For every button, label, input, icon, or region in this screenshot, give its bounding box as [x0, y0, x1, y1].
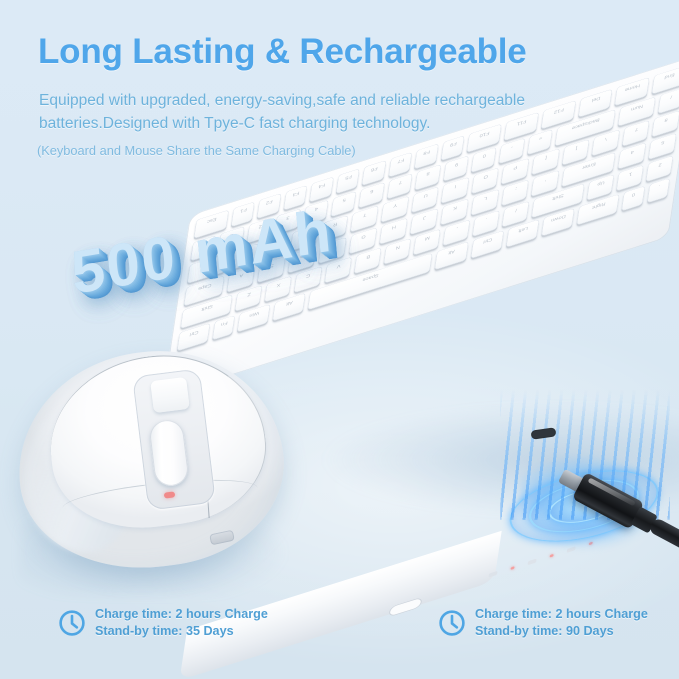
key-label: F7: [393, 155, 410, 166]
spec-item-mouse: Charge time: 2 hours Charge Stand-by tim…: [58, 606, 268, 639]
key-label: ': [536, 173, 557, 185]
spec-item-keyboard: Charge time: 2 hours Charge Stand-by tim…: [438, 606, 648, 639]
key-label: 5: [653, 136, 674, 148]
key-label: Up: [591, 177, 611, 189]
key-label: 1: [620, 168, 640, 180]
key-label: U: [415, 189, 436, 201]
key-label: Win: [242, 307, 268, 321]
clock-icon: [58, 609, 86, 637]
key-label: F6: [366, 163, 383, 174]
key-label: 0: [626, 189, 642, 199]
key-label: M: [417, 232, 437, 244]
key-label: [: [536, 151, 557, 163]
key-label: K: [444, 202, 465, 214]
indicator-icon: [567, 546, 576, 553]
keyboard-key[interactable]: Fn: [212, 315, 235, 340]
key-label: O: [475, 170, 496, 182]
key-label: F8: [419, 147, 436, 158]
key-label: 0: [475, 150, 493, 161]
key-label: Alt: [277, 296, 303, 310]
key-label: Y: [385, 199, 406, 211]
key-label: 9: [447, 159, 465, 170]
key-label: J: [414, 211, 435, 223]
keyboard-key[interactable]: .: [647, 178, 670, 203]
key-label: Alt: [439, 245, 465, 259]
key-label: Down: [545, 211, 571, 225]
key-label: Ctrl: [181, 326, 207, 340]
key-label: H: [384, 221, 405, 233]
indicator-icon: [488, 571, 497, 578]
key-label: 2: [650, 158, 670, 170]
standby-time-label: Stand-by time: 90 Days: [475, 623, 648, 639]
key-label: G: [353, 230, 374, 242]
key-label: 8: [419, 167, 437, 178]
shared-cable-note: (Keyboard and Mouse Share the Same Charg…: [37, 142, 356, 160]
spec-text-block: Charge time: 2 hours Charge Stand-by tim…: [475, 606, 648, 639]
key-label: X: [269, 279, 289, 291]
key-label: 4: [622, 146, 643, 158]
key-label: F4: [314, 180, 331, 191]
page-title: Long Lasting & Rechargeable: [38, 30, 527, 74]
key-label: End: [656, 68, 679, 82]
key-label: Ctrl: [475, 233, 501, 247]
key-label: 7: [391, 176, 409, 187]
keyboard-indicator-leds: [487, 525, 623, 584]
key-label: C: [299, 269, 319, 281]
key-label: Fn: [217, 318, 233, 328]
key-label: F5: [340, 171, 357, 182]
clock-icon: [438, 609, 466, 637]
mouse-illustration: [10, 350, 310, 600]
key-label: L: [475, 192, 496, 204]
indicator-icon: [528, 559, 537, 566]
mouse-dpi-button[interactable]: [150, 377, 190, 413]
key-label: T: [355, 208, 376, 220]
key-label: I: [445, 180, 466, 192]
led-dot: [550, 554, 554, 558]
key-label: Z: [239, 288, 259, 300]
key-label: N: [388, 241, 408, 253]
key-label: 5: [335, 194, 353, 205]
charge-time-label: Charge time: 2 hours Charge: [95, 606, 268, 622]
key-label: .: [477, 213, 497, 225]
key-label: /: [506, 204, 526, 216]
keyboard-key[interactable]: 0: [622, 186, 645, 211]
spec-strip: Charge time: 2 hours Charge Stand-by tim…: [0, 589, 679, 679]
key-label: Left: [510, 222, 536, 236]
key-label: 6: [363, 185, 381, 196]
key-label: .: [651, 181, 667, 191]
led-dot: [510, 566, 514, 570]
led-dot: [589, 541, 593, 545]
key-label: ]: [566, 142, 587, 154]
key-label: -: [503, 141, 521, 152]
standby-time-label: Stand-by time: 35 Days: [95, 623, 268, 639]
spec-text-block: Charge time: 2 hours Charge Stand-by tim…: [95, 606, 268, 639]
key-label: ,: [447, 222, 467, 234]
key-label: P: [506, 161, 527, 173]
charge-time-label: Charge time: 2 hours Charge: [475, 606, 648, 622]
product-feature-poster: Long Lasting & Rechargeable Equipped wit…: [0, 0, 679, 679]
key-label: /: [662, 91, 679, 102]
key-label: B: [358, 250, 378, 262]
key-label: ;: [505, 182, 526, 194]
key-label: F3: [288, 188, 305, 199]
subtitle-text: Equipped with upgraded, energy-saving,sa…: [39, 89, 639, 135]
key-label: 8: [656, 113, 677, 125]
keyboard-key[interactable]: /: [657, 88, 679, 114]
key-label: F9: [445, 138, 462, 149]
